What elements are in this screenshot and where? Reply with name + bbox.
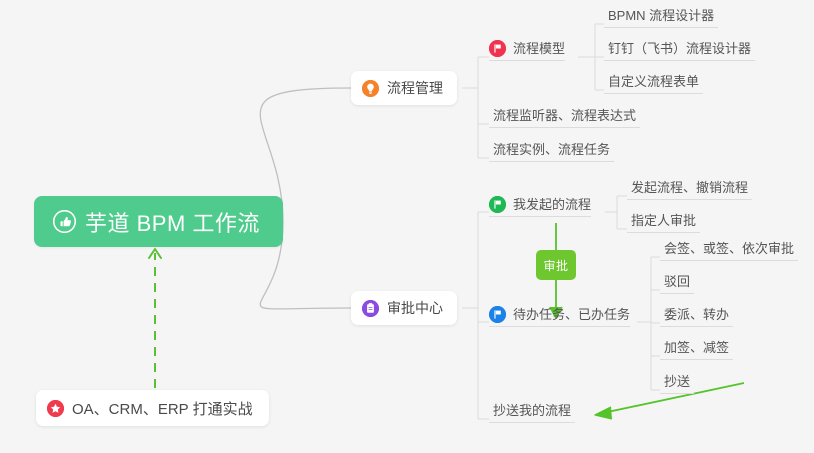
leaf-node-cc-to-me[interactable]: 抄送我的流程 [489, 403, 575, 423]
branch-label-process-management: 流程管理 [387, 78, 443, 98]
leaf-node-bpmn-designer[interactable]: BPMN 流程设计器 [604, 8, 718, 28]
sub-label-process-model: 流程模型 [513, 41, 565, 57]
branch-label-approval-center: 审批中心 [387, 298, 443, 318]
cc-arrow-head [595, 407, 612, 419]
leaf-node-delegate-transfer[interactable]: 委派、转办 [660, 307, 733, 327]
flag-icon-red [489, 40, 506, 57]
leaf-node-custom-form[interactable]: 自定义流程表单 [604, 74, 703, 94]
lightbulb-pin-icon [362, 80, 379, 97]
sub-label-my-initiated-process: 我发起的流程 [513, 197, 591, 213]
mindmap-canvas: 芋道 BPM 工作流 OA、CRM、ERP 打通实战 流程管理 [0, 0, 814, 453]
root-label: 芋道 BPM 工作流 [85, 206, 260, 238]
leaf-node-reject[interactable]: 驳回 [660, 274, 694, 294]
sub-node-my-initiated-process[interactable]: 我发起的流程 [489, 196, 591, 217]
leaf-node-process-instance[interactable]: 流程实例、流程任务 [489, 142, 614, 162]
dashed-arrow-head [149, 249, 161, 258]
flag-icon-blue [489, 306, 506, 323]
callout-approval-label: 审批 [543, 257, 568, 274]
sub-node-todo-done-tasks[interactable]: 待办任务、已办任务 [489, 306, 630, 327]
leaf-node-countersign[interactable]: 会签、或签、依次审批 [660, 241, 798, 261]
star-icon [47, 400, 64, 417]
thumbs-up-icon [53, 210, 76, 233]
leaf-node-process-listener[interactable]: 流程监听器、流程表达式 [489, 108, 640, 128]
sub-node-process-model[interactable]: 流程模型 [489, 40, 565, 61]
leaf-node-cc[interactable]: 抄送 [660, 374, 694, 394]
branch-node-approval-center[interactable]: 审批中心 [351, 291, 457, 325]
leaf-node-assignee-approval[interactable]: 指定人审批 [627, 213, 700, 233]
callout-approval-badge[interactable]: 审批 [536, 250, 576, 280]
flag-icon-green [489, 196, 506, 213]
leaf-node-start-cancel-process[interactable]: 发起流程、撤销流程 [627, 180, 752, 200]
floating-note-node[interactable]: OA、CRM、ERP 打通实战 [36, 390, 269, 426]
sub-label-todo-done-tasks: 待办任务、已办任务 [513, 307, 630, 323]
leaf-node-dingtalk-designer[interactable]: 钉钉（飞书）流程设计器 [604, 41, 755, 61]
floating-note-label: OA、CRM、ERP 打通实战 [72, 398, 253, 419]
leaf-node-add-remove-sign[interactable]: 加签、减签 [660, 340, 733, 360]
branch-node-process-management[interactable]: 流程管理 [351, 71, 457, 105]
document-icon-purple [362, 300, 379, 317]
root-node[interactable]: 芋道 BPM 工作流 [34, 196, 283, 247]
